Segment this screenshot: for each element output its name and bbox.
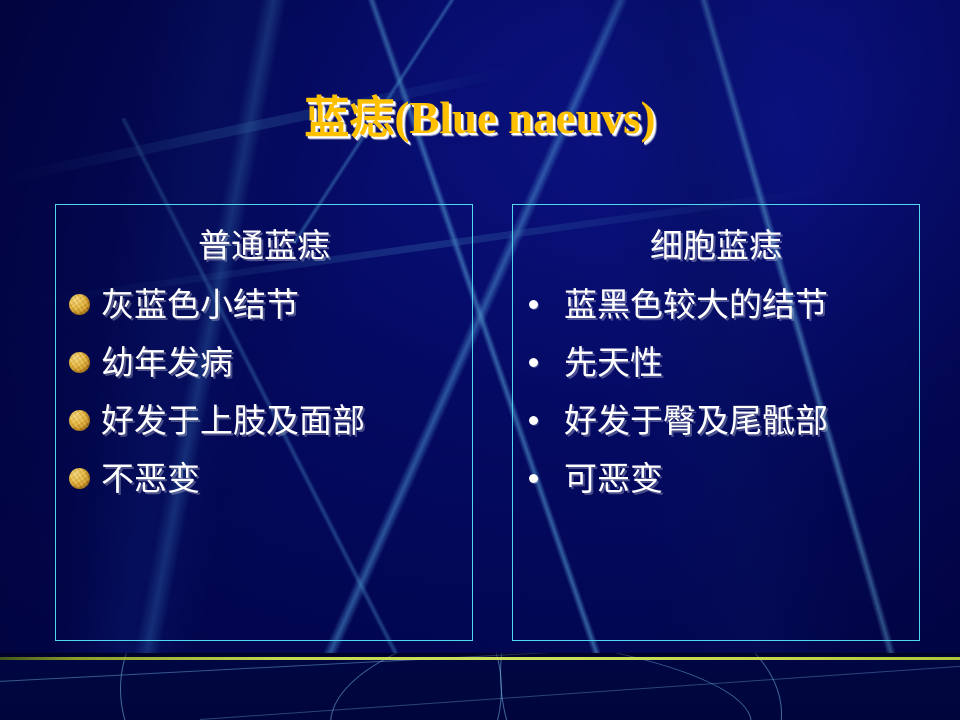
dot-bullet-icon bbox=[529, 358, 538, 367]
dot-bullet-icon bbox=[529, 300, 538, 309]
list-item-label: 幼年发病 bbox=[101, 346, 233, 379]
gold-sphere-bullet-icon bbox=[69, 352, 90, 373]
gold-sphere-bullet-icon bbox=[69, 468, 90, 489]
panel-right-bullet-list: 蓝黑色较大的结节 先天性 好发于臀及尾骶部 可恶变 bbox=[513, 275, 919, 507]
list-item: 蓝黑色较大的结节 bbox=[513, 275, 919, 333]
footer-arc-6 bbox=[500, 653, 960, 720]
list-item: 可恶变 bbox=[513, 449, 919, 507]
gold-sphere-bullet-icon bbox=[69, 410, 90, 431]
list-item-label: 可恶变 bbox=[564, 462, 663, 495]
list-item-label: 好发于上肢及面部 bbox=[101, 404, 365, 437]
list-item: 幼年发病 bbox=[56, 333, 472, 391]
panel-common-blue-naevus: 普通蓝痣 灰蓝色小结节 幼年发病 好发于上肢及面部 不恶变 bbox=[55, 204, 473, 641]
page-title-cn: 蓝痣 bbox=[304, 91, 394, 144]
list-item-label: 不恶变 bbox=[101, 462, 200, 495]
dot-bullet-icon bbox=[529, 474, 538, 483]
list-item-label: 蓝黑色较大的结节 bbox=[564, 288, 828, 321]
page-title: 蓝痣(Blue naeuvs) bbox=[0, 92, 960, 145]
gold-sphere-bullet-icon bbox=[69, 294, 90, 315]
list-item-label: 先天性 bbox=[564, 346, 663, 379]
list-item: 先天性 bbox=[513, 333, 919, 391]
panel-cellular-blue-naevus: 细胞蓝痣 蓝黑色较大的结节 先天性 好发于臀及尾骶部 可恶变 bbox=[512, 204, 920, 641]
list-item: 灰蓝色小结节 bbox=[56, 275, 472, 333]
panel-left-bullet-list: 灰蓝色小结节 幼年发病 好发于上肢及面部 不恶变 bbox=[56, 275, 472, 507]
page-title-en: (Blue naeuvs) bbox=[394, 93, 655, 143]
footer-accent-rule bbox=[0, 657, 960, 660]
list-item: 好发于臀及尾骶部 bbox=[513, 391, 919, 449]
list-item-label: 灰蓝色小结节 bbox=[101, 288, 299, 321]
panel-left-heading: 普通蓝痣 bbox=[56, 219, 472, 267]
slide-footer-band bbox=[0, 653, 960, 720]
list-item: 好发于上肢及面部 bbox=[56, 391, 472, 449]
list-item: 不恶变 bbox=[56, 449, 472, 507]
slide-canvas: 蓝痣(Blue naeuvs) 普通蓝痣 灰蓝色小结节 幼年发病 好发于上肢及面… bbox=[0, 0, 960, 720]
panel-right-heading: 细胞蓝痣 bbox=[513, 219, 919, 267]
list-item-label: 好发于臀及尾骶部 bbox=[564, 404, 828, 437]
dot-bullet-icon bbox=[529, 416, 538, 425]
